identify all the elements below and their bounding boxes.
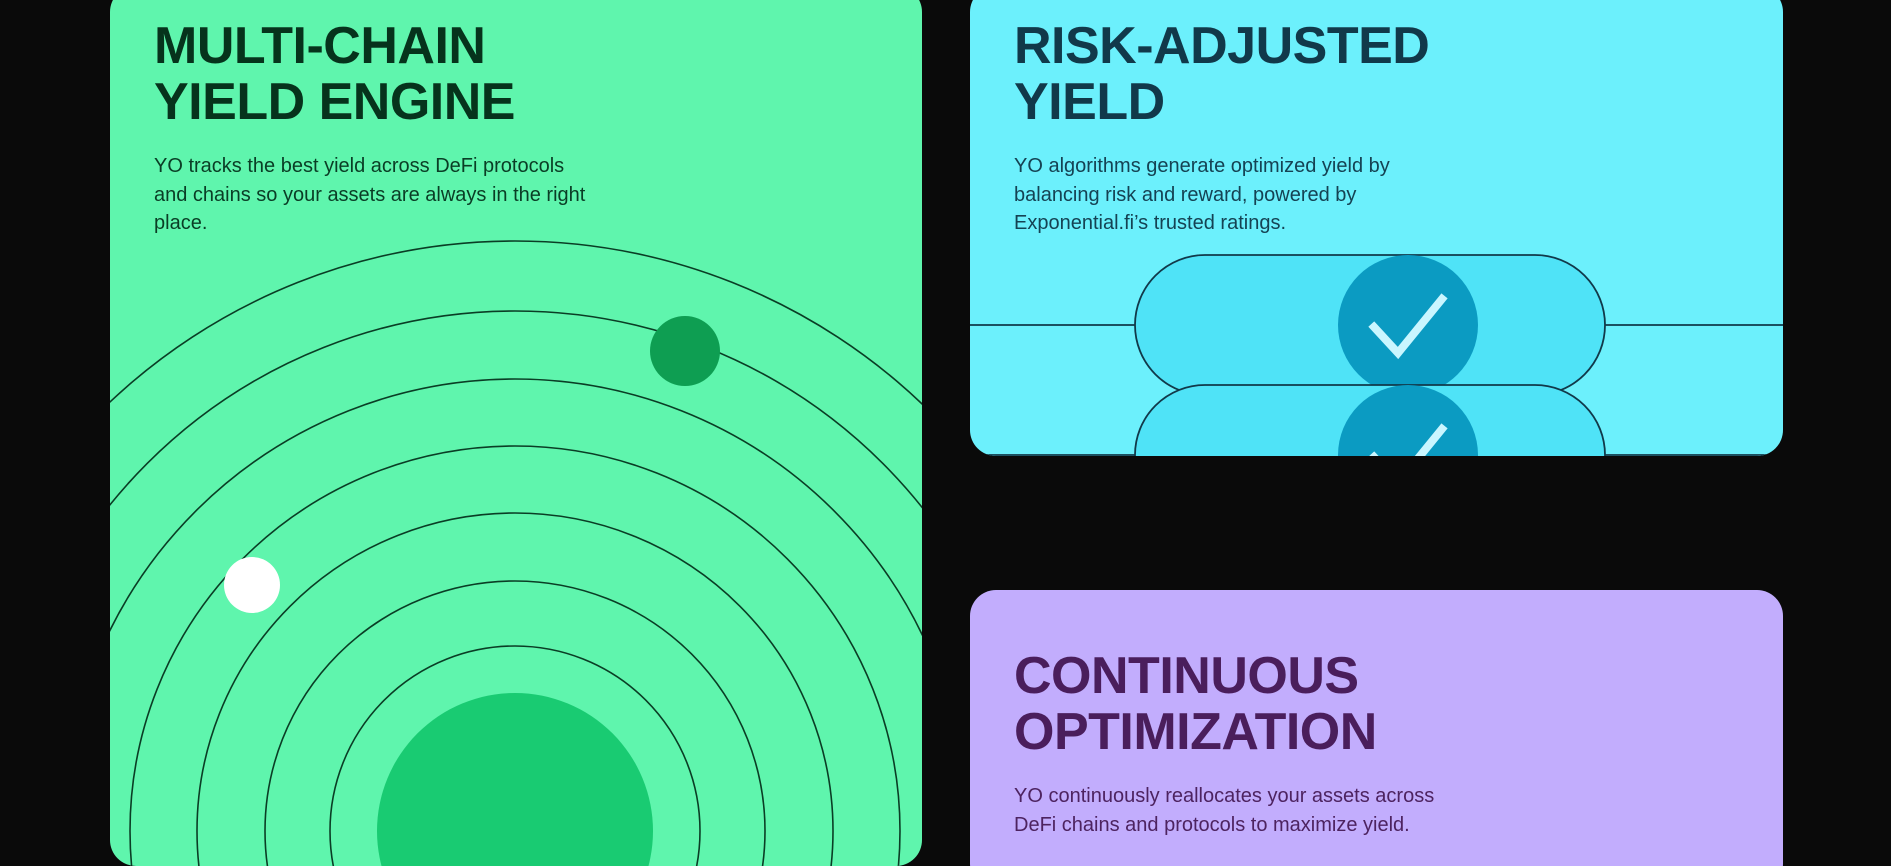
card-title: CONTINUOUS OPTIMIZATION — [1014, 648, 1739, 760]
rating-pill — [1135, 385, 1605, 456]
orbit-dot-light — [224, 557, 280, 613]
card-title: MULTI-CHAIN YIELD ENGINE — [154, 18, 878, 130]
card-body: YO tracks the best yield across DeFi pro… — [154, 152, 878, 237]
card-body: YO continuously reallocates your assets … — [1014, 782, 1739, 839]
check-icon — [1374, 429, 1442, 456]
orbit-core-circle — [377, 693, 653, 866]
card-title: RISK-ADJUSTED YIELD — [1014, 18, 1739, 130]
features-section: MULTI-CHAIN YIELD ENGINE YO tracks the b… — [0, 0, 1891, 866]
check-badge-circle — [1338, 255, 1478, 395]
feature-card-continuous-optimization[interactable]: CONTINUOUS OPTIMIZATION YO continuously … — [970, 590, 1783, 866]
rating-pill — [1135, 255, 1605, 395]
orbit-dot-dark — [650, 316, 720, 386]
check-icon — [1374, 299, 1442, 353]
feature-card-multi-chain-yield-engine[interactable]: MULTI-CHAIN YIELD ENGINE YO tracks the b… — [110, 0, 922, 866]
feature-card-risk-adjusted-yield[interactable]: RISK-ADJUSTED YIELD YO algorithms genera… — [970, 0, 1783, 456]
check-badge-circle — [1338, 385, 1478, 456]
card-body: YO algorithms generate optimized yield b… — [1014, 152, 1739, 237]
